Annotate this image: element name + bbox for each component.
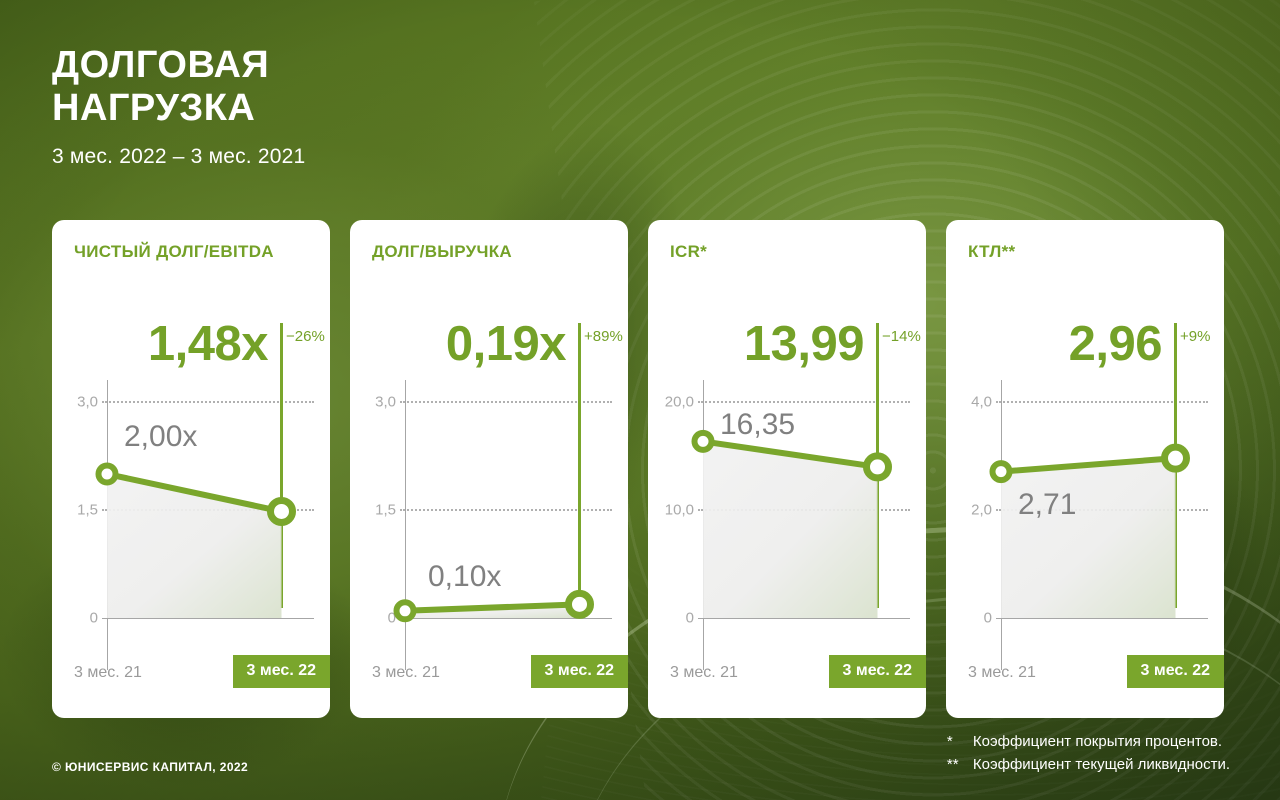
y-axis-line: [703, 380, 704, 670]
x-axis-label-current-badge: 3 мес. 22: [233, 655, 330, 688]
x-axis-label-previous: 3 мес. 21: [74, 664, 142, 682]
axis-zero-line: [102, 618, 314, 619]
x-axis-label-current-badge: 3 мес. 22: [1127, 655, 1224, 688]
y-axis-tick-label: 3,0: [52, 394, 98, 411]
y-axis-tick-label: 20,0: [648, 394, 694, 411]
footnote-mark: *: [947, 730, 965, 753]
metric-line-chart: [946, 220, 1224, 718]
x-axis-label-current-badge: 3 мес. 22: [829, 655, 926, 688]
footnote-mark: **: [947, 753, 965, 776]
metric-card: ICR*20,010,0013,99−14%16,353 мес. 213 ме…: [648, 220, 926, 718]
current-period-marker-line: [578, 323, 581, 608]
chart-trend-line: [1001, 458, 1176, 472]
metric-previous-value: 16,35: [720, 408, 795, 442]
y-axis-tick-label: 1,5: [52, 502, 98, 519]
y-axis-tick-label: 0: [946, 610, 992, 627]
metric-previous-value: 0,10x: [428, 560, 501, 594]
header: ДОЛГОВАЯ НАГРУЗКА 3 мес. 2022 – 3 мес. 2…: [52, 44, 305, 169]
metric-card: ЧИСТЫЙ ДОЛГ/EBITDA3,01,501,48x−26%2,00x3…: [52, 220, 330, 718]
metric-line-chart: [52, 220, 330, 718]
page-title: ДОЛГОВАЯ НАГРУЗКА: [52, 44, 305, 129]
y-axis-tick-label: 4,0: [946, 394, 992, 411]
current-period-marker-line: [876, 323, 879, 608]
y-axis-tick-label: 0: [52, 610, 98, 627]
current-period-marker-line: [1174, 323, 1177, 608]
y-axis-tick-label: 0: [350, 610, 396, 627]
axis-zero-line: [996, 618, 1208, 619]
metric-current-value: 13,99: [744, 316, 864, 372]
chart-area-fill: [107, 474, 282, 618]
y-axis-tick-label: 1,5: [350, 502, 396, 519]
axis-zero-line: [400, 618, 612, 619]
metric-card: КТЛ**4,02,002,96+9%2,713 мес. 213 мес. 2…: [946, 220, 1224, 718]
y-axis-tick-label: 3,0: [350, 394, 396, 411]
y-axis-tick-label: 0: [648, 610, 694, 627]
footnote-text: Коэффициент покрытия процентов.: [973, 730, 1222, 753]
y-axis-line: [405, 380, 406, 670]
metric-card-list: ЧИСТЫЙ ДОЛГ/EBITDA3,01,501,48x−26%2,00x3…: [52, 220, 1224, 718]
metric-change-percent: +89%: [584, 328, 623, 345]
metric-line-chart: [648, 220, 926, 718]
metric-change-percent: −14%: [882, 328, 921, 345]
chart-area-fill: [1001, 458, 1176, 618]
metric-card-title: ЧИСТЫЙ ДОЛГ/EBITDA: [74, 242, 274, 262]
y-axis-line: [107, 380, 108, 670]
axis-zero-line: [698, 618, 910, 619]
page-subtitle: 3 мес. 2022 – 3 мес. 2021: [52, 145, 305, 169]
footnote-text: Коэффициент текущей ликвидности.: [973, 753, 1230, 776]
metric-previous-value: 2,71: [1018, 488, 1076, 522]
metric-change-percent: −26%: [286, 328, 325, 345]
y-axis-line: [1001, 380, 1002, 670]
y-axis-tick-label: 10,0: [648, 502, 694, 519]
metric-card-title: ICR*: [670, 242, 707, 262]
metric-current-value: 2,96: [1069, 316, 1162, 372]
metric-line-chart: [350, 220, 628, 718]
metric-current-value: 1,48x: [148, 316, 268, 372]
chart-area-fill: [703, 441, 878, 618]
chart-trend-line: [405, 604, 580, 610]
x-axis-label-previous: 3 мес. 21: [968, 664, 1036, 682]
chart-trend-line: [703, 441, 878, 466]
x-axis-label-current-badge: 3 мес. 22: [531, 655, 628, 688]
metric-current-value: 0,19x: [446, 316, 566, 372]
footnote-item: ** Коэффициент текущей ликвидности.: [947, 753, 1230, 776]
y-axis-tick-label: 2,0: [946, 502, 992, 519]
current-period-marker-line: [280, 323, 283, 608]
copyright: © ЮНИСЕРВИС КАПИТАЛ, 2022: [52, 760, 248, 774]
metric-card-title: КТЛ**: [968, 242, 1015, 262]
chart-area-fill: [405, 604, 580, 618]
footnote-item: * Коэффициент покрытия процентов.: [947, 730, 1230, 753]
metric-change-percent: +9%: [1180, 328, 1210, 345]
x-axis-label-previous: 3 мес. 21: [670, 664, 738, 682]
metric-card-title: ДОЛГ/ВЫРУЧКА: [372, 242, 512, 262]
metric-previous-value: 2,00x: [124, 420, 197, 454]
chart-trend-line: [107, 474, 282, 511]
metric-card: ДОЛГ/ВЫРУЧКА3,01,500,19x+89%0,10x3 мес. …: [350, 220, 628, 718]
footnotes: * Коэффициент покрытия процентов. ** Коэ…: [947, 730, 1230, 777]
x-axis-label-previous: 3 мес. 21: [372, 664, 440, 682]
